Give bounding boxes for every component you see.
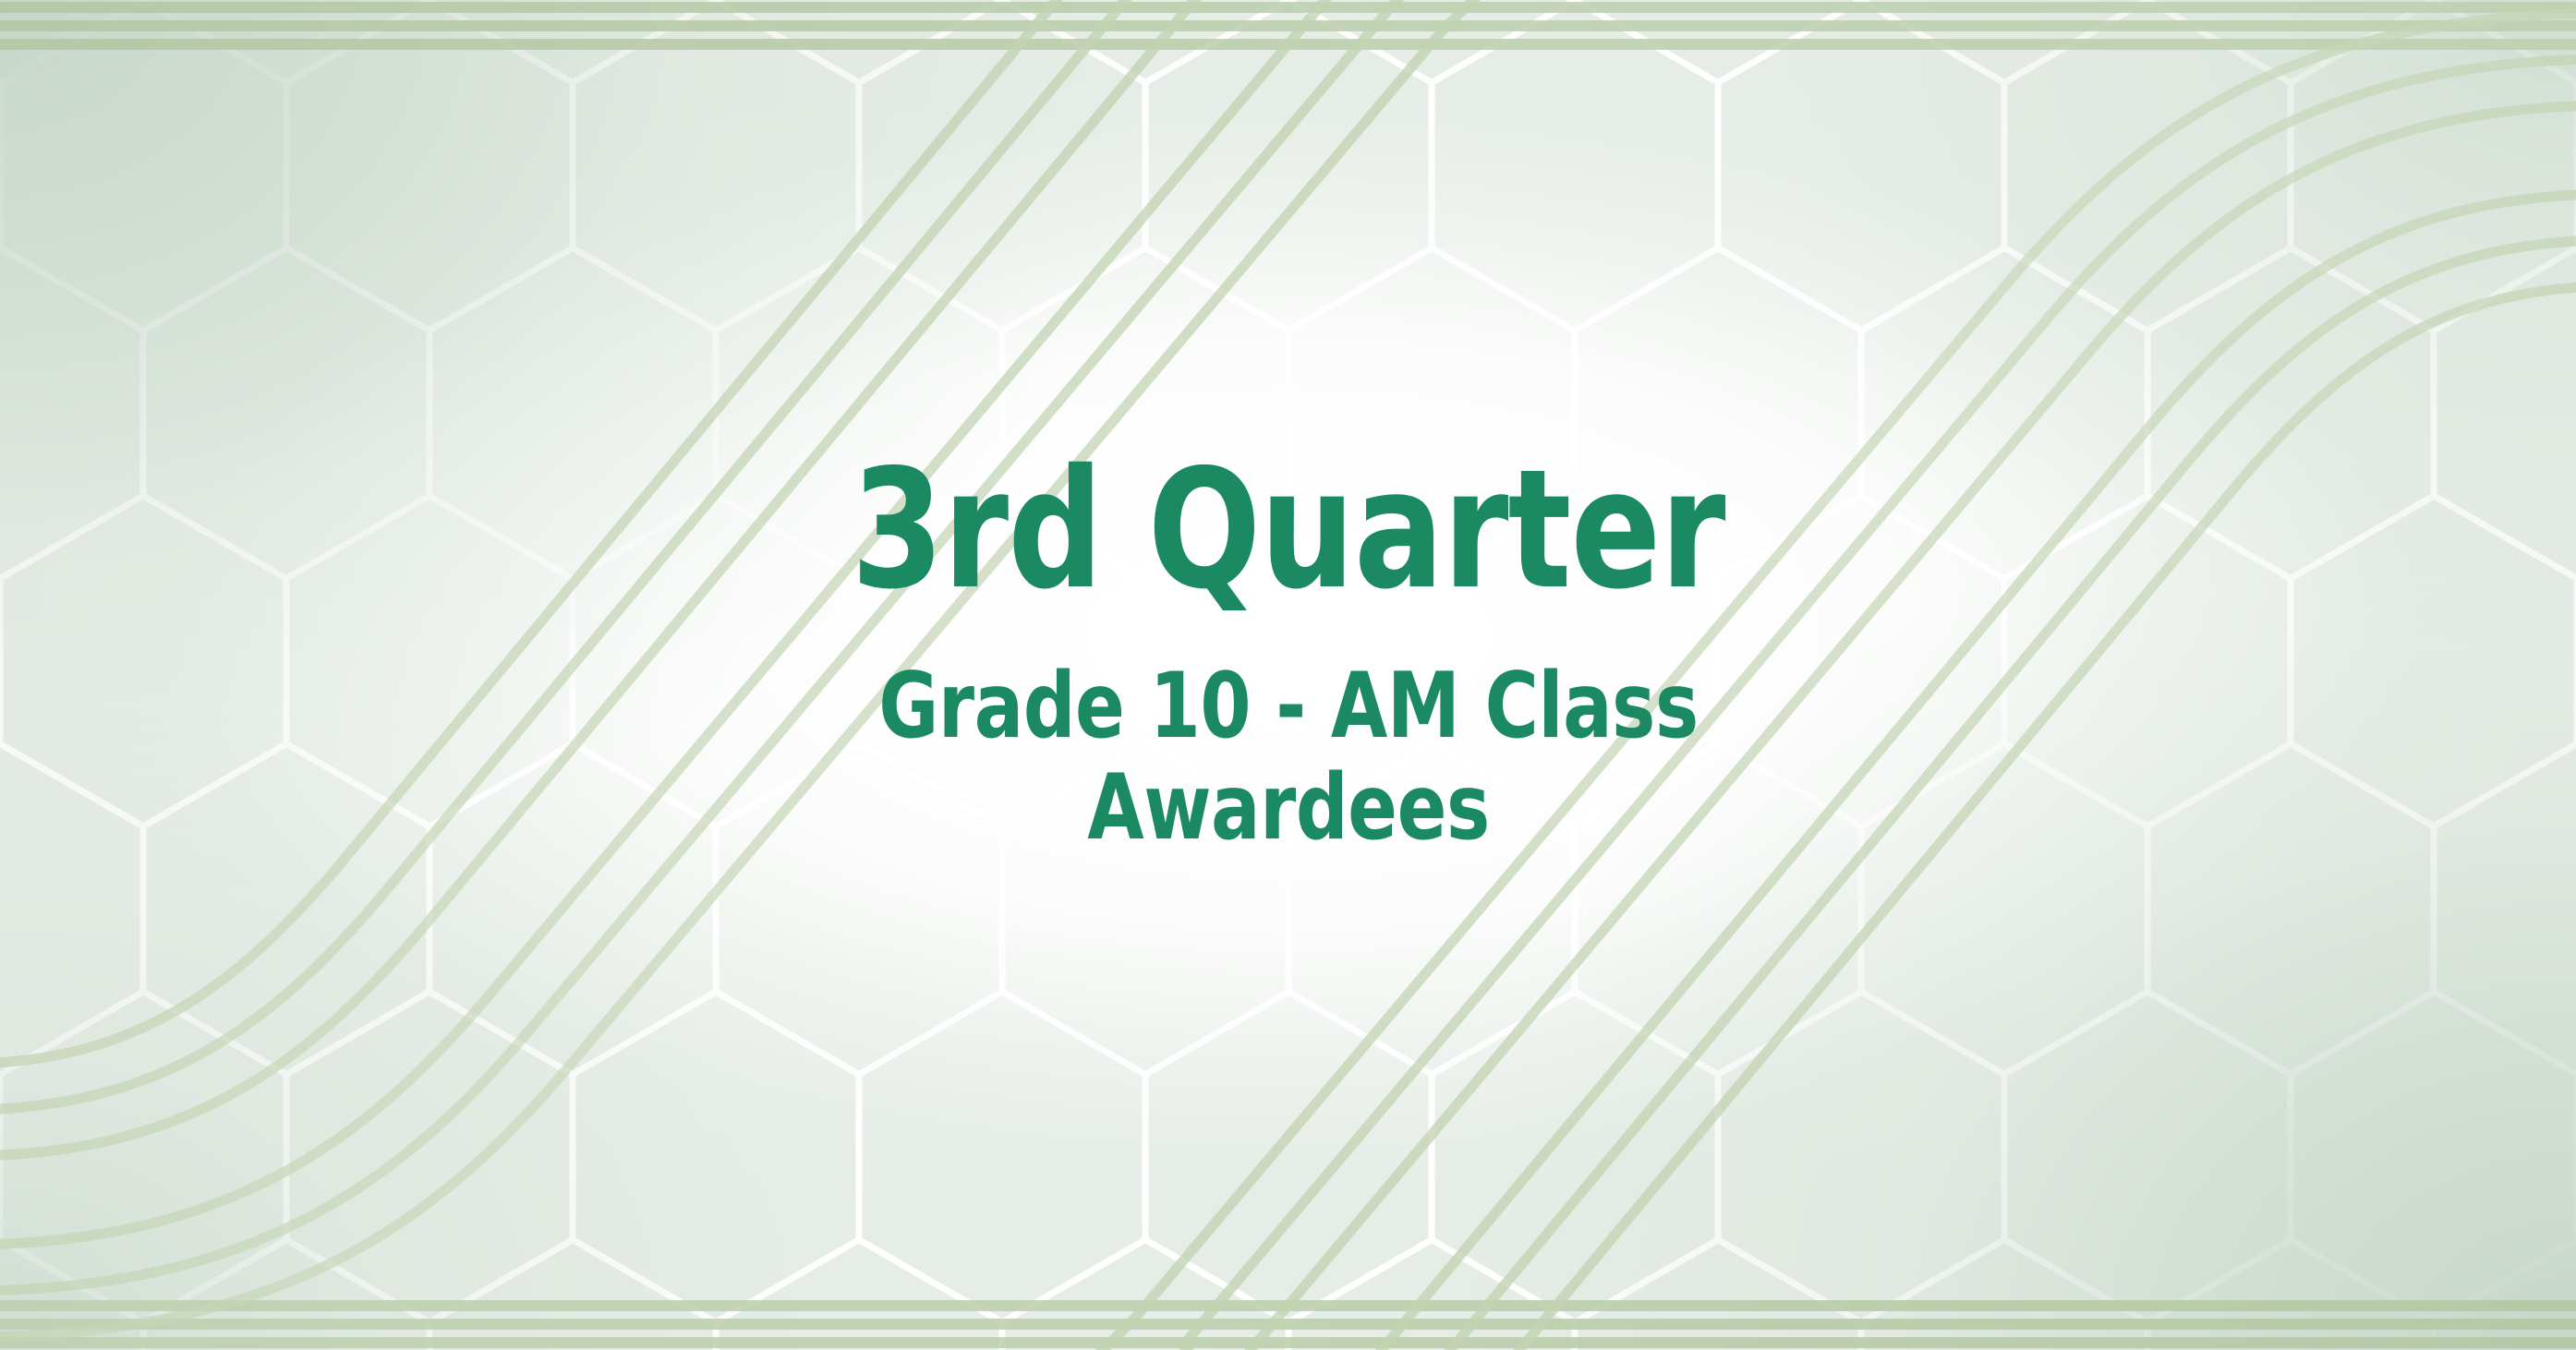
title-text-block: 3rd Quarter Grade 10 - AM Class Awardees xyxy=(0,0,2576,1350)
page-subtitle: Grade 10 - AM Class Awardees xyxy=(768,657,1808,860)
page-title: 3rd Quarter xyxy=(851,446,1724,614)
title-slide: 3rd Quarter Grade 10 - AM Class Awardees xyxy=(0,0,2576,1350)
